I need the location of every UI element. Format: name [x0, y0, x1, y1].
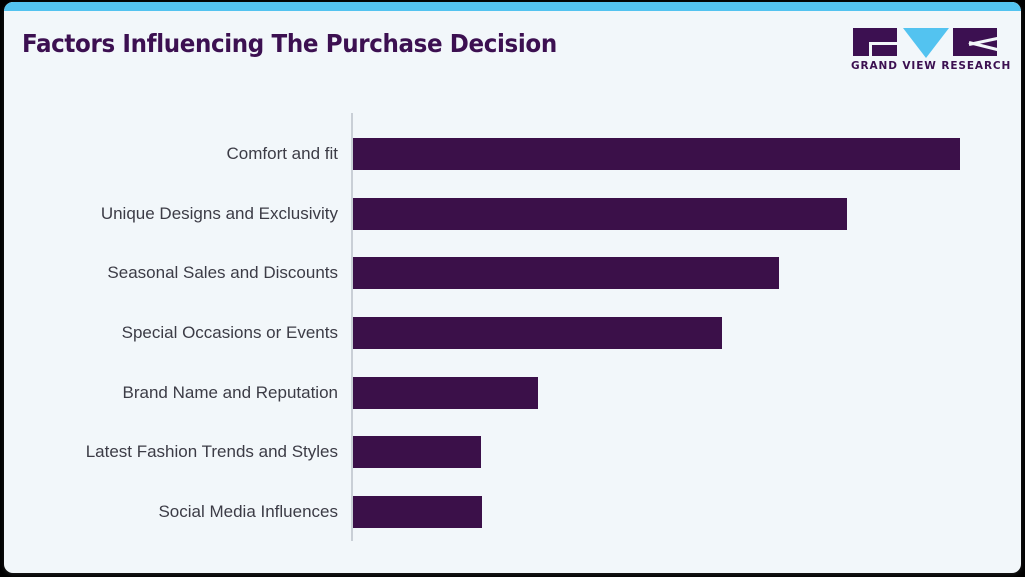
bar-chart-plot-area: Comfort and fitUnique Designs and Exclus… [4, 2, 1021, 573]
bar [353, 317, 722, 349]
bar-category-label: Special Occasions or Events [4, 317, 338, 349]
bar-category-label: Comfort and fit [4, 138, 338, 170]
bar-row: Unique Designs and Exclusivity [4, 198, 1021, 230]
bar-category-label: Social Media Influences [4, 496, 338, 528]
bar [353, 377, 538, 409]
infographic-card: Factors Influencing The Purchase Decisio… [4, 2, 1021, 573]
bar [353, 496, 482, 528]
bar-category-label: Seasonal Sales and Discounts [4, 257, 338, 289]
bar-category-label: Brand Name and Reputation [4, 377, 338, 409]
bar-row: Comfort and fit [4, 138, 1021, 170]
bar-row: Brand Name and Reputation [4, 377, 1021, 409]
bar-row: Latest Fashion Trends and Styles [4, 436, 1021, 468]
bar-row: Seasonal Sales and Discounts [4, 257, 1021, 289]
bar-row: Social Media Influences [4, 496, 1021, 528]
bar [353, 138, 960, 170]
bar [353, 436, 481, 468]
bar [353, 198, 847, 230]
bar [353, 257, 779, 289]
bar-category-label: Unique Designs and Exclusivity [4, 198, 338, 230]
bar-row: Special Occasions or Events [4, 317, 1021, 349]
bar-category-label: Latest Fashion Trends and Styles [4, 436, 338, 468]
